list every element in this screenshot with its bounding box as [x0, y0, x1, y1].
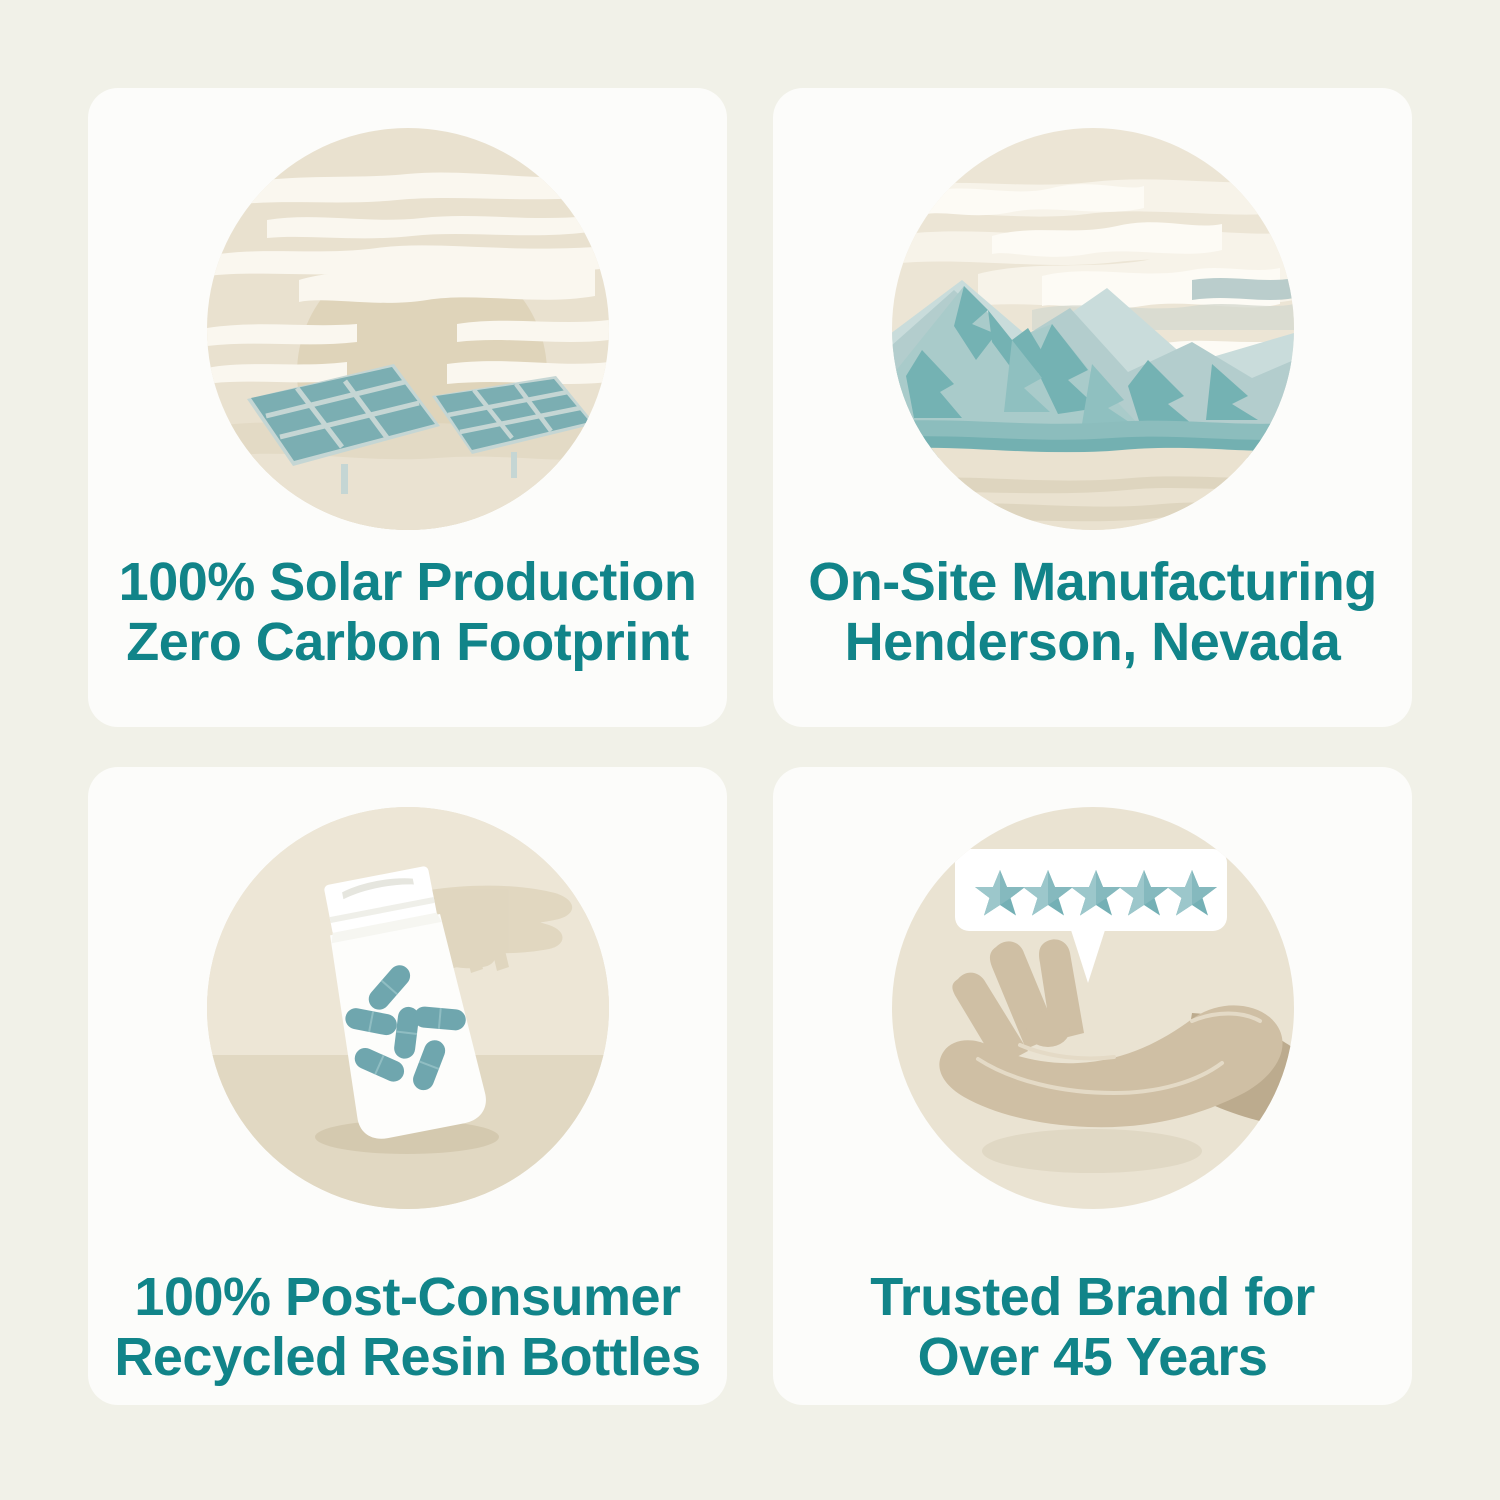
- mountain-landscape-illustration: [892, 128, 1294, 530]
- card-caption: 100% Solar Production Zero Carbon Footpr…: [88, 552, 727, 673]
- feature-card-recycled-resin-bottles[interactable]: 100% Post-Consumer Recycled Resin Bottle…: [88, 767, 727, 1406]
- card-caption: Trusted Brand for Over 45 Years: [773, 1267, 1412, 1388]
- caption-line-1: Trusted Brand for: [787, 1267, 1398, 1327]
- hand-five-stars-illustration: [892, 807, 1294, 1209]
- feature-card-solar-production[interactable]: 100% Solar Production Zero Carbon Footpr…: [88, 88, 727, 727]
- card-caption: 100% Post-Consumer Recycled Resin Bottle…: [88, 1267, 727, 1388]
- feature-card-trusted-brand[interactable]: Trusted Brand for Over 45 Years: [773, 767, 1412, 1406]
- caption-line-2: Recycled Resin Bottles: [102, 1327, 713, 1387]
- card-caption: On-Site Manufacturing Henderson, Nevada: [773, 552, 1412, 673]
- caption-line-2: Henderson, Nevada: [787, 612, 1398, 672]
- caption-line-2: Zero Carbon Footprint: [102, 612, 713, 672]
- caption-line-1: 100% Post-Consumer: [102, 1267, 713, 1327]
- feature-card-grid: 100% Solar Production Zero Carbon Footpr…: [0, 0, 1500, 1500]
- caption-line-1: On-Site Manufacturing: [787, 552, 1398, 612]
- caption-line-2: Over 45 Years: [787, 1327, 1398, 1387]
- caption-line-1: 100% Solar Production: [102, 552, 713, 612]
- supplement-bottle-illustration: [207, 807, 609, 1209]
- solar-panel-illustration: [207, 128, 609, 530]
- feature-card-on-site-manufacturing[interactable]: On-Site Manufacturing Henderson, Nevada: [773, 88, 1412, 727]
